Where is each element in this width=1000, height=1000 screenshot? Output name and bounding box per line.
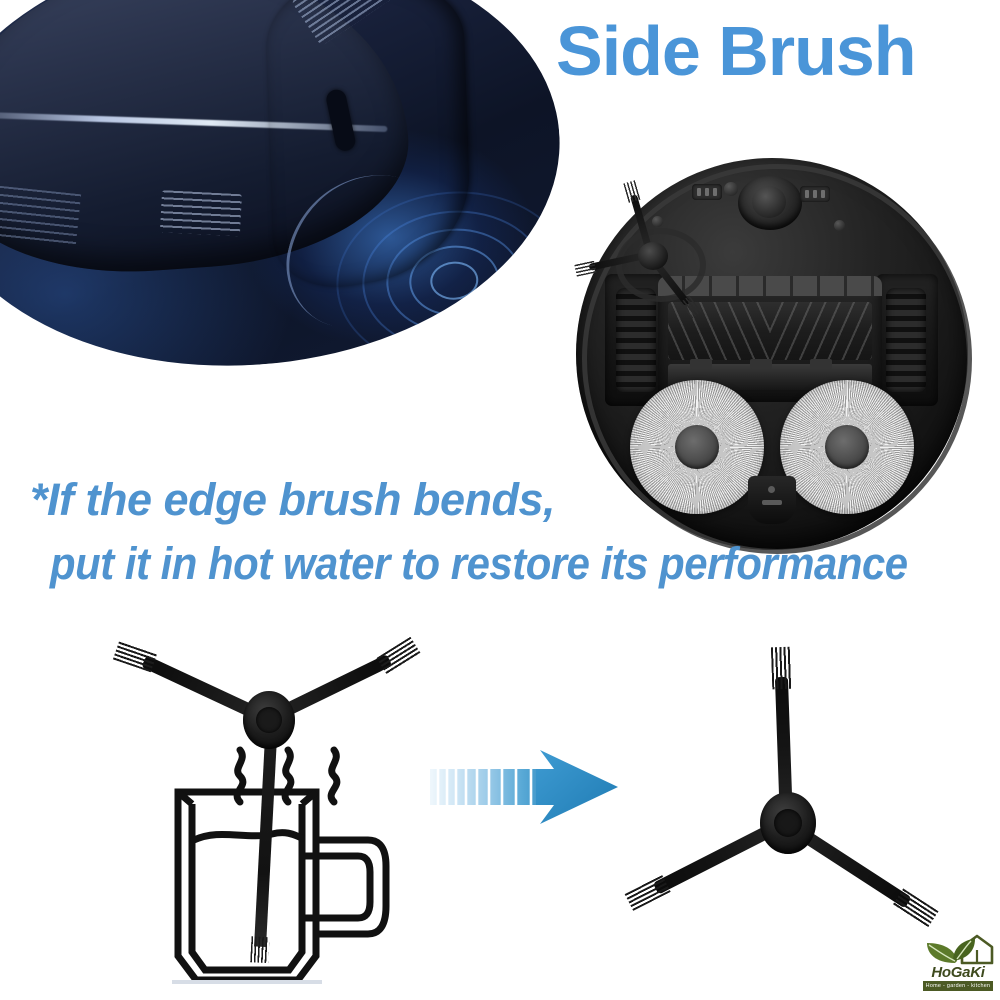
mop-plate-clip <box>748 476 796 524</box>
logo-mark <box>921 933 995 967</box>
logo-tagline: Home - garden - kitchen <box>923 981 993 991</box>
right-arrow-icon <box>428 742 626 832</box>
cliff-sensor-right <box>834 220 845 231</box>
hot-water-mug <box>172 788 392 984</box>
page-title: Side Brush <box>556 6 1000 96</box>
mounted-side-brush <box>590 186 720 306</box>
logo-wordmark: HoGaKi <box>921 965 995 980</box>
mug-icon <box>172 788 392 984</box>
restored-side-brush <box>608 628 978 938</box>
leaf-house-icon <box>921 933 995 967</box>
caster-wheel <box>738 176 802 230</box>
caption-line-2: put it in hot water to restore its perfo… <box>50 538 908 590</box>
brand-logo: HoGaKi Home - garden - kitchen <box>921 933 995 995</box>
caption-line-1: *If the edge brush bends, <box>30 474 555 526</box>
mounted-brush-hub <box>638 242 668 270</box>
mop-pad-left <box>630 380 764 514</box>
drive-wheel-right <box>886 288 926 392</box>
infographic-page: Side Brush *If the edge <box>0 0 1000 1000</box>
mop-pad-right <box>780 380 914 514</box>
hero-exhaust-vent <box>160 190 242 236</box>
hero-product-photo <box>0 0 574 386</box>
cliff-sensor-front <box>724 182 738 196</box>
bent-side-brush <box>115 615 435 755</box>
charging-contact-right <box>800 186 830 202</box>
transformation-arrow <box>428 742 626 832</box>
robot-vacuum-underside <box>572 158 972 558</box>
restored-brush-hub <box>760 792 816 854</box>
bent-brush-hub <box>243 691 295 749</box>
